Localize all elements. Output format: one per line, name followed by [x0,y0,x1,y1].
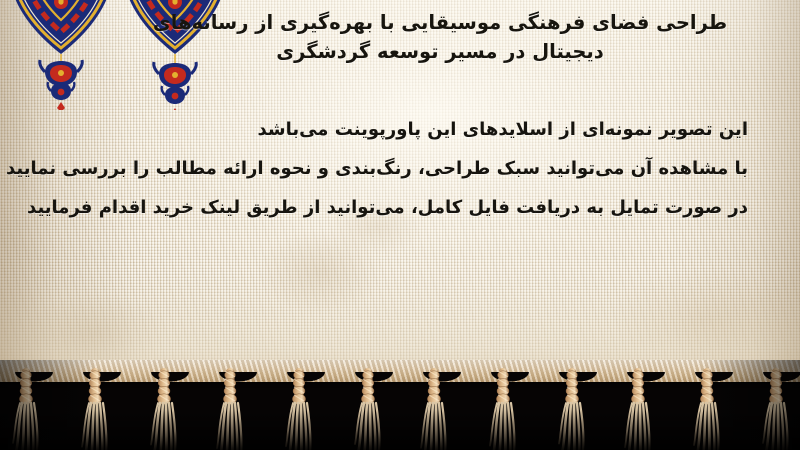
fringe-tassel [282,368,316,450]
fringe-floor-shadow [0,410,800,450]
body-line-1: این تصویر نمونه‌ای از اسلایدهای این پاور… [12,110,748,149]
fringe-tassel [554,368,588,450]
fringe-tassel [486,368,520,450]
fringe-tassel [214,368,248,450]
fringe-tassel [78,368,112,450]
persian-medallion-pendant-icon [8,0,114,114]
slide-body-text: این تصویر نمونه‌ای از اسلایدهای این پاور… [12,110,764,227]
fringe-tassel [622,368,656,450]
fringe-tassel [758,368,792,450]
slide-title-line-1: طراحی فضای فرهنگی موسیقایی با بهره‌گیری … [140,8,740,37]
fringe-tassel [690,368,724,450]
body-line-2: با مشاهده آن می‌توانید سبک طراحی، رنگ‌بن… [12,149,748,188]
body-line-3: در صورت تمایل به دریافت فایل کامل، می‌تو… [12,188,748,227]
fringe-tassel [10,368,44,450]
fringe-tassel [350,368,384,450]
carpet-fringe-zone [0,360,800,450]
fringe-tassel [418,368,452,450]
fringe-scallop-arcs [0,372,800,402]
fringe-tassel [146,368,180,450]
slide-canvas: طراحی فضای فرهنگی موسیقایی با بهره‌گیری … [0,0,800,450]
slide-title-line-2: دیجیتال در مسیر توسعه گردشگری [140,37,740,66]
slide-title: طراحی فضای فرهنگی موسیقایی با بهره‌گیری … [140,8,740,66]
